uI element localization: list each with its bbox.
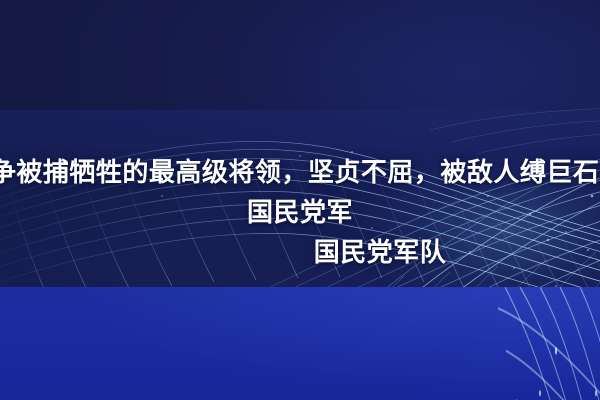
- banner-image: 盈配网配资官网 解放战争被捕牺牲的最高级将领，坚贞不屈，被敌人缚巨石沉入长江_刘…: [0, 0, 600, 400]
- headline-text: 盈配网配资官网 解放战争被捕牺牲的最高级将领，坚贞不屈，被敌人缚巨石沉入长江_刘…: [0, 152, 600, 232]
- headline-line-1: 盈配网配资官网 解放战争被捕牺牲的最高级将领，: [0, 157, 308, 187]
- headline-line-3: 国民党军队: [0, 232, 600, 272]
- lower-band-shading: [0, 287, 600, 400]
